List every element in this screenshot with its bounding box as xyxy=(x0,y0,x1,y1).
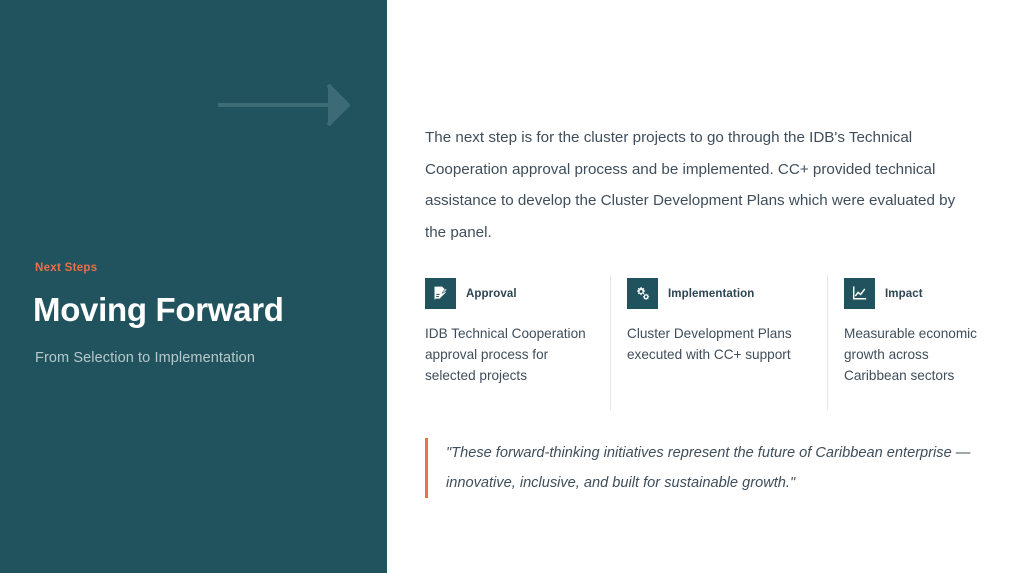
feature-body: IDB Technical Cooperation approval proce… xyxy=(425,323,592,386)
eyebrow-label: Next Steps xyxy=(35,262,97,274)
pull-quote: "These forward-thinking initiatives repr… xyxy=(425,438,985,498)
feature-header: Approval xyxy=(425,278,592,309)
document-edit-icon xyxy=(425,278,456,309)
feature-body: Cluster Development Plans executed with … xyxy=(627,323,809,365)
page-subtitle: From Selection to Implementation xyxy=(35,350,255,366)
feature-column-impact: Impact Measurable economic growth across… xyxy=(827,278,995,386)
line-chart-icon xyxy=(844,278,875,309)
feature-column-approval: Approval IDB Technical Cooperation appro… xyxy=(425,278,610,386)
slide-root: Next Steps Moving Forward From Selection… xyxy=(0,0,1024,573)
arrow-right-icon xyxy=(216,84,350,126)
feature-title: Implementation xyxy=(668,288,754,300)
feature-columns: Approval IDB Technical Cooperation appro… xyxy=(425,278,995,386)
right-content-panel: The next step is for the cluster project… xyxy=(387,0,1024,573)
feature-title: Impact xyxy=(885,288,923,300)
feature-column-implementation: Implementation Cluster Development Plans… xyxy=(610,278,827,365)
feature-header: Implementation xyxy=(627,278,809,309)
gears-icon xyxy=(627,278,658,309)
feature-header: Impact xyxy=(844,278,977,309)
lead-paragraph: The next step is for the cluster project… xyxy=(425,122,977,248)
page-title: Moving Forward xyxy=(33,290,284,330)
pull-quote-text: "These forward-thinking initiatives repr… xyxy=(446,438,985,498)
feature-title: Approval xyxy=(466,288,517,300)
left-title-panel: Next Steps Moving Forward From Selection… xyxy=(0,0,387,573)
feature-body: Measurable economic growth across Caribb… xyxy=(844,323,977,386)
